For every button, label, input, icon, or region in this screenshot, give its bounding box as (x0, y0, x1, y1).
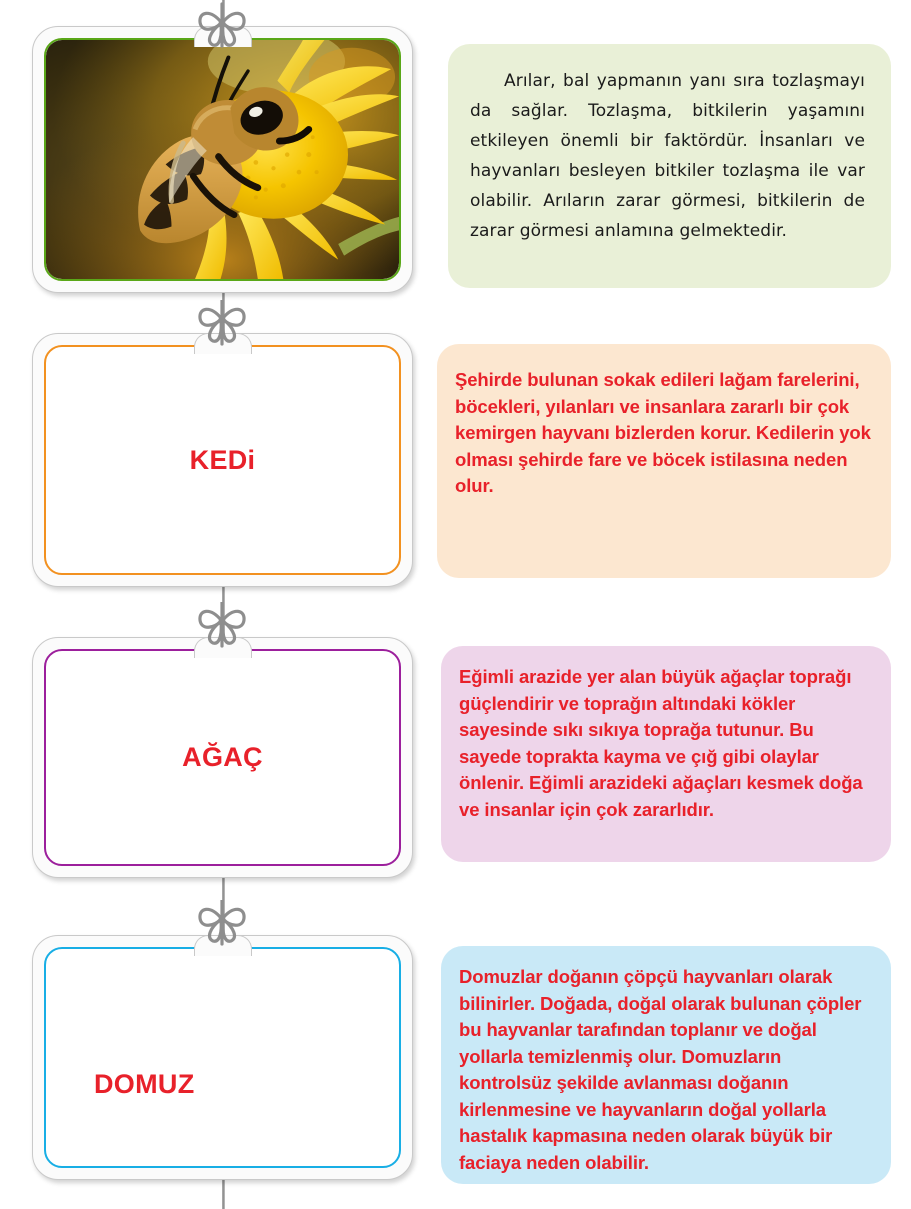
card-inner-kedi: KEDi (44, 345, 401, 575)
card-ari[interactable] (32, 26, 413, 293)
card-inner-agac: AĞAÇ (44, 649, 401, 866)
panel-ari: Arılar, bal yapmanın yanı sıra tozlaşmay… (448, 44, 891, 288)
panel-text-agac: Eğimli arazide yer alan büyük ağaçlar to… (459, 664, 877, 823)
bow-knot-icon (190, 300, 254, 351)
card-label-agac: AĞAÇ (46, 742, 399, 773)
card-label-kedi: KEDi (46, 445, 399, 476)
panel-text-ari: Arılar, bal yapmanın yanı sıra tozlaşmay… (470, 66, 865, 246)
card-label-domuz: DOMUZ (46, 1069, 399, 1100)
panel-text-domuz: Domuzlar doğanın çöpçü hayvanları olarak… (459, 964, 877, 1176)
card-inner-ari (44, 38, 401, 281)
panel-agac: Eğimli arazide yer alan büyük ağaçlar to… (441, 646, 891, 862)
card-domuz[interactable]: DOMUZ (32, 935, 413, 1180)
panel-domuz: Domuzlar doğanın çöpçü hayvanları olarak… (441, 946, 891, 1184)
bow-knot-icon (190, 2, 254, 53)
bow-knot-icon (190, 602, 254, 653)
card-kedi[interactable]: KEDi (32, 333, 413, 587)
card-inner-domuz: DOMUZ (44, 947, 401, 1168)
bow-knot-icon (190, 900, 254, 951)
bee-photo (46, 40, 399, 279)
card-agac[interactable]: AĞAÇ (32, 637, 413, 878)
panel-text-kedi: Şehirde bulunan sokak edileri lağam fare… (455, 367, 877, 500)
panel-kedi: Şehirde bulunan sokak edileri lağam fare… (437, 344, 891, 578)
